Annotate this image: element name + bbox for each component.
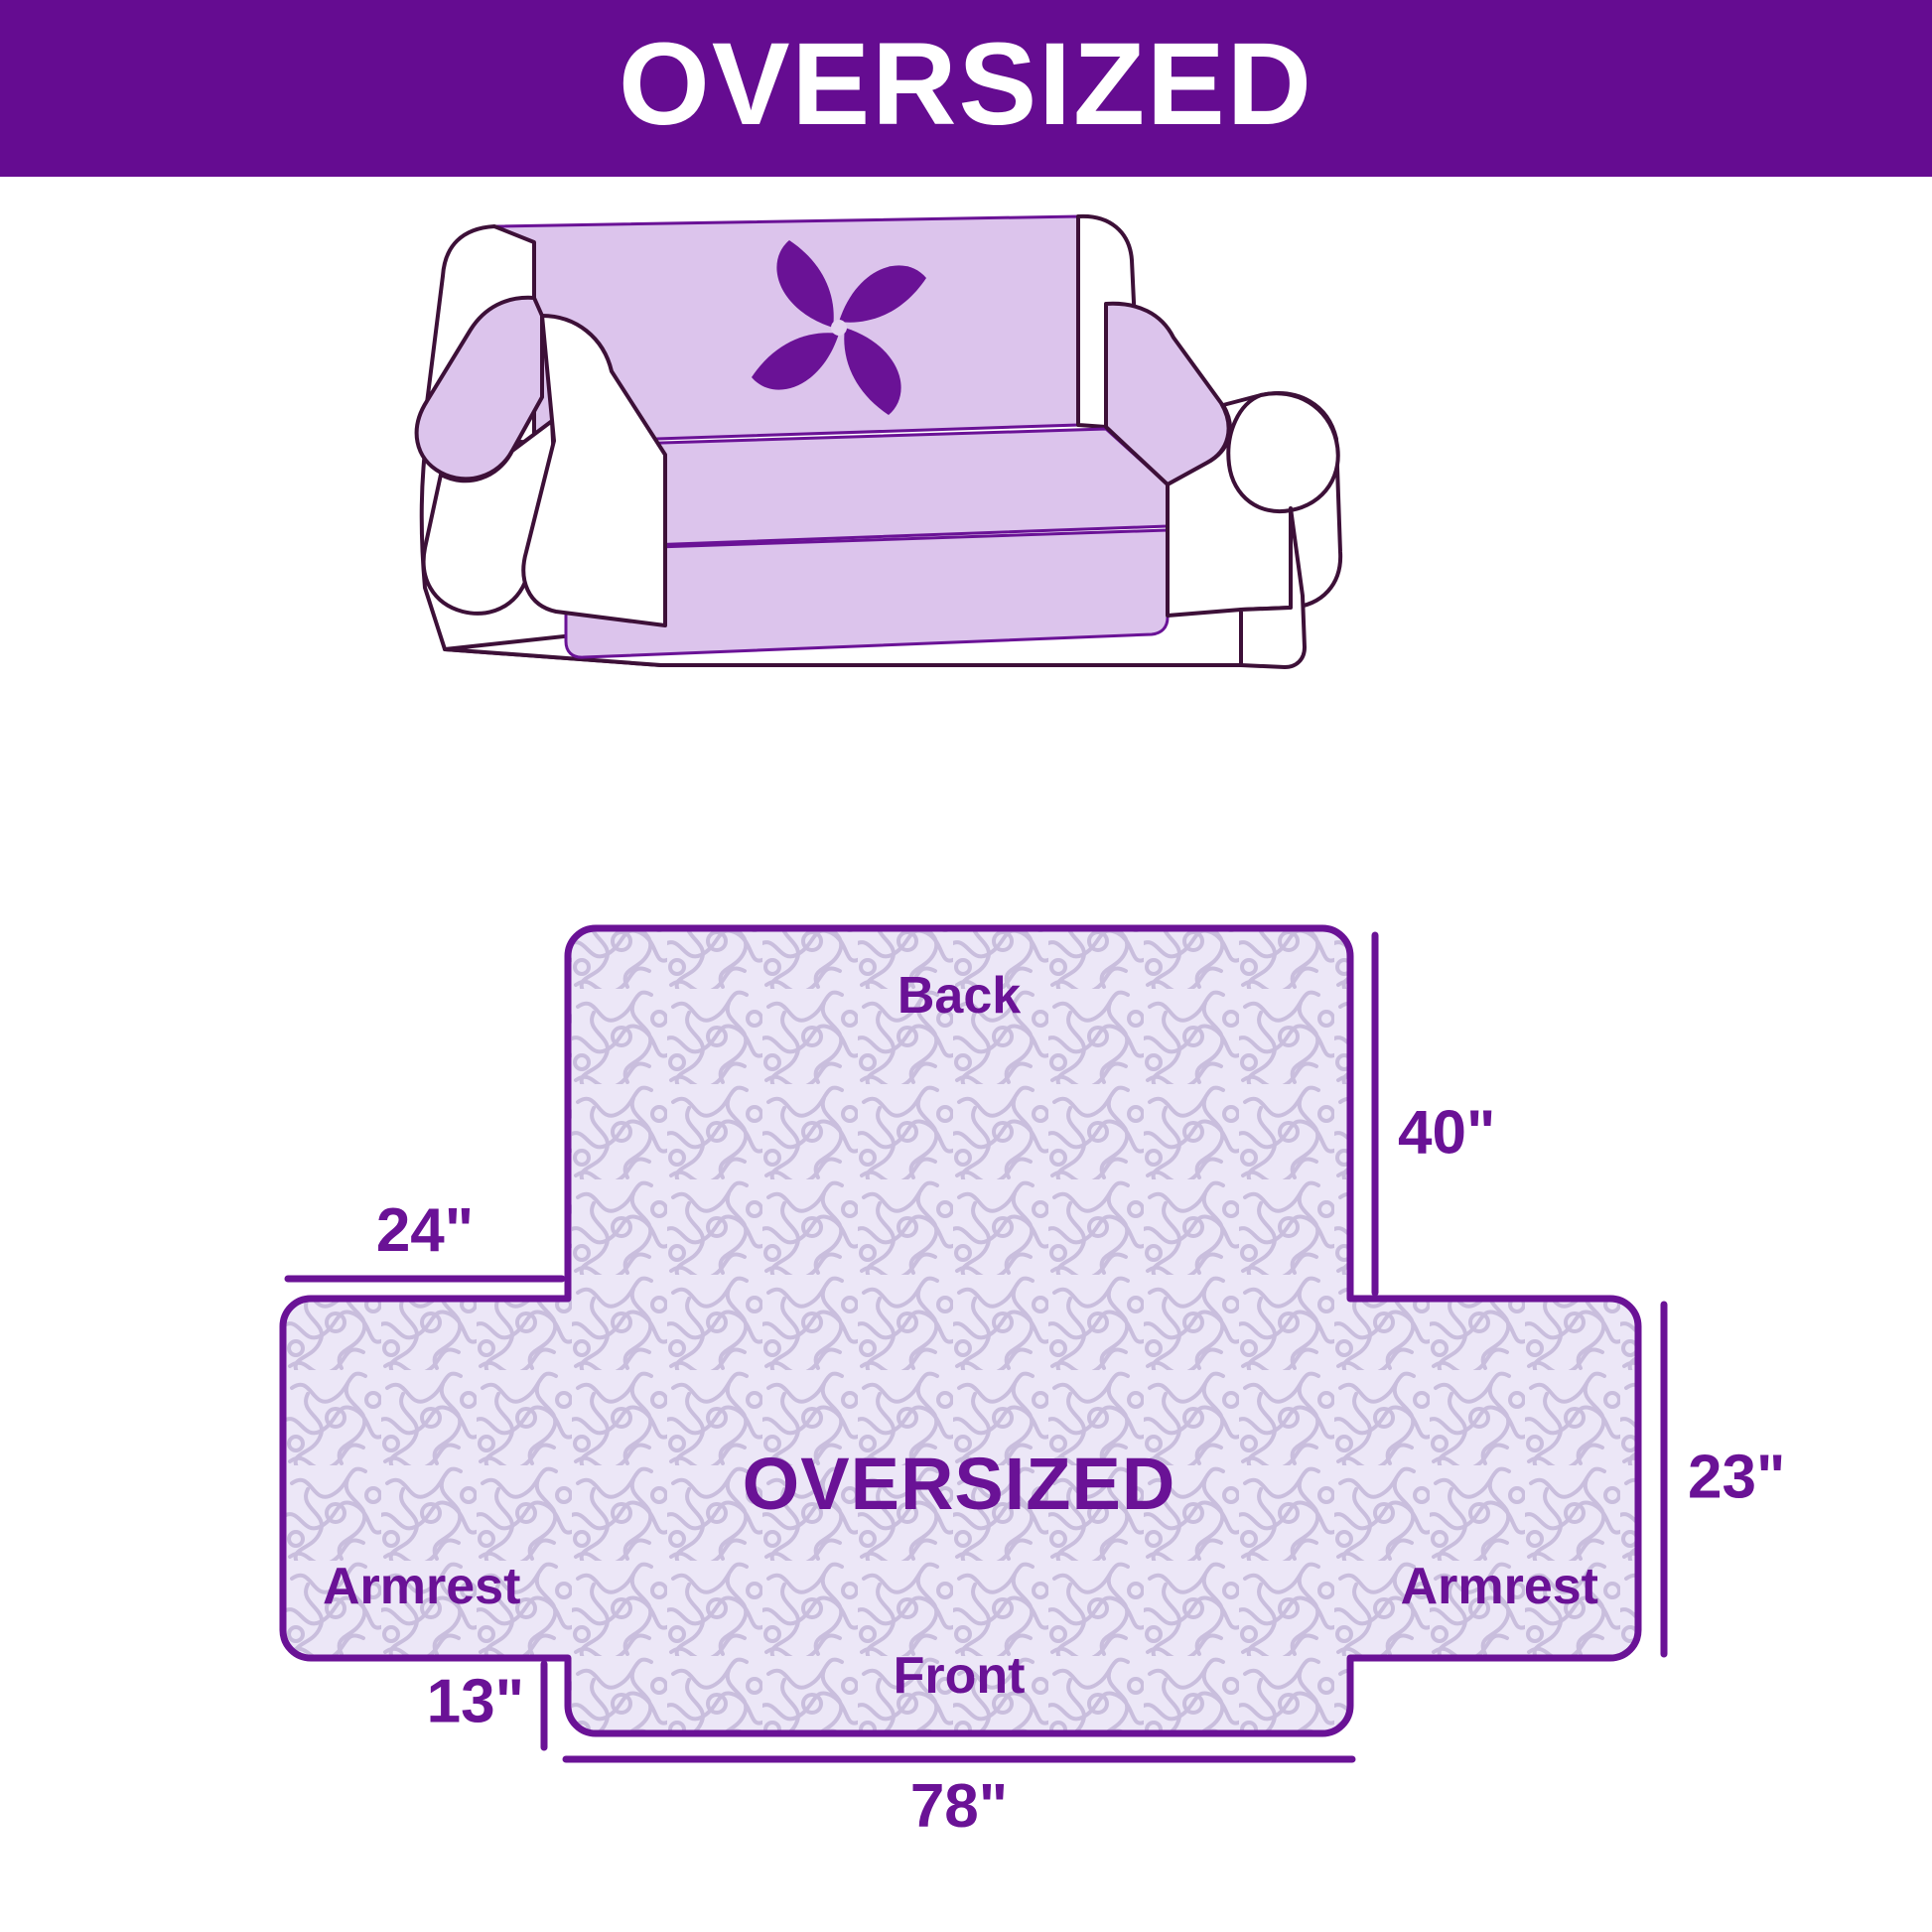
- dimension-front-offset-value: 13": [427, 1667, 524, 1735]
- header-banner: OVERSIZED: [0, 0, 1932, 177]
- dimension-back-offset: 24": [288, 1196, 562, 1279]
- dimension-front-width-value: 78": [910, 1772, 1008, 1841]
- dimension-armrest-height-value: 23": [1688, 1443, 1785, 1511]
- panel-label-armrest-right: Armrest: [1401, 1558, 1598, 1615]
- panel-label-back: Back: [897, 967, 1021, 1025]
- dimension-diagram: Back OVERSIZED Armrest Armrest Front 40"…: [0, 894, 1932, 1886]
- dimension-back-height: 40": [1375, 935, 1495, 1293]
- sofa-right-arm-scroll: [1228, 393, 1337, 511]
- dimension-front-width: 78": [566, 1759, 1352, 1841]
- page-title: OVERSIZED: [619, 26, 1313, 143]
- panel-label-front: Front: [894, 1647, 1026, 1705]
- sofa-illustration: [367, 199, 1579, 755]
- dimension-front-offset: 13": [427, 1664, 544, 1747]
- dimension-armrest-height: 23": [1664, 1305, 1785, 1654]
- dimension-back-height-value: 40": [1398, 1098, 1495, 1167]
- center-label: OVERSIZED: [743, 1443, 1176, 1525]
- dimension-back-offset-value: 24": [376, 1196, 474, 1265]
- panel-label-armrest-left: Armrest: [323, 1558, 520, 1615]
